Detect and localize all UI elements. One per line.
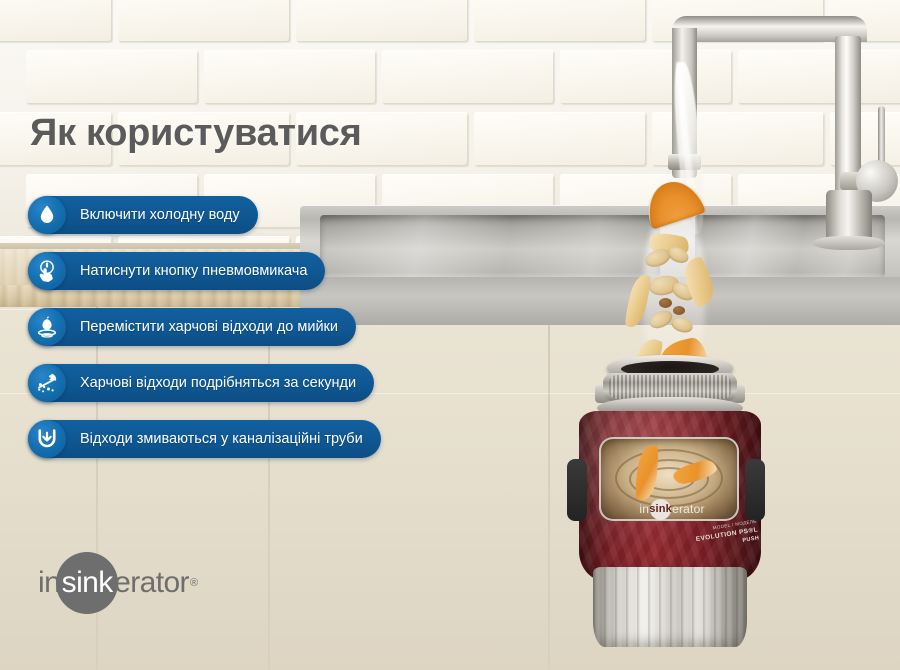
- wall-tile: [474, 0, 646, 42]
- disposer-logo-sink: sink: [650, 499, 671, 520]
- logo-text-erator: erator: [114, 566, 189, 600]
- shell-flutes: [593, 567, 747, 647]
- water-drop-icon: [28, 196, 66, 234]
- food-waste-disposer: in sink erator MODEL / МОДЕЛЬ EVOLUTION …: [555, 355, 785, 655]
- orange-wedge-icon: [640, 174, 706, 229]
- disposer-logo-erator: erator: [672, 502, 705, 516]
- logo-circle-sink: sink: [56, 552, 118, 614]
- step-label-1: Включити холодну воду: [80, 207, 240, 223]
- step-label-5: Відходи змиваються у каналізаційні труби: [80, 431, 363, 447]
- hand-press-button-icon: [28, 252, 66, 290]
- page-title: Як користуватися: [30, 112, 362, 155]
- wall-tile: [26, 50, 198, 104]
- drain-arrow-icon: [28, 420, 66, 458]
- how-to-use-step-list: Включити холодну водуНатиснути кнопку пн…: [28, 196, 381, 476]
- step-pill-4[interactable]: Харчові відходи подрібняться за секунди: [28, 364, 374, 402]
- grinding-food-icon: [28, 364, 66, 402]
- wall-tile: [382, 50, 554, 104]
- disposer-logo-in: in: [639, 502, 649, 516]
- wall-tile: [474, 112, 646, 166]
- step-label-2: Натиснути кнопку пневмовмикача: [80, 263, 307, 279]
- step-pill-3[interactable]: Перемістити харчові відходи до мийки: [28, 308, 356, 346]
- bean-bit: [673, 306, 685, 315]
- sink-apron: [300, 277, 900, 325]
- disposer-brand-logo: in sink erator: [617, 499, 727, 519]
- disposer-side-pad: [567, 459, 587, 521]
- step-pill-1[interactable]: Включити холодну воду: [28, 196, 258, 234]
- cabinet-seam: [548, 307, 550, 670]
- collar-knurling: [609, 375, 731, 399]
- disposer-lower-shell: [593, 567, 747, 647]
- faucet-escutcheon: [813, 236, 885, 250]
- food-into-sink-icon: [28, 308, 66, 346]
- bean-bit: [659, 298, 672, 308]
- insinkerator-logo: in sink erator ®: [38, 552, 197, 614]
- step-pill-5[interactable]: Відходи змиваються у каналізаційні труби: [28, 420, 381, 458]
- wall-tile: [296, 0, 468, 42]
- step-label-4: Харчові відходи подрібняться за секунди: [80, 375, 356, 391]
- kitchen-infographic: in sink erator MODEL / МОДЕЛЬ EVOLUTION …: [0, 0, 900, 670]
- wall-tile: [118, 0, 290, 42]
- disposer-side-pad: [745, 459, 765, 521]
- step-pill-2[interactable]: Натиснути кнопку пневмовмикача: [28, 252, 325, 290]
- wall-tile: [204, 50, 376, 104]
- logo-trademark: ®: [190, 577, 198, 589]
- step-label-3: Перемістити харчові відходи до мийки: [80, 319, 338, 335]
- wall-tile: [0, 0, 112, 42]
